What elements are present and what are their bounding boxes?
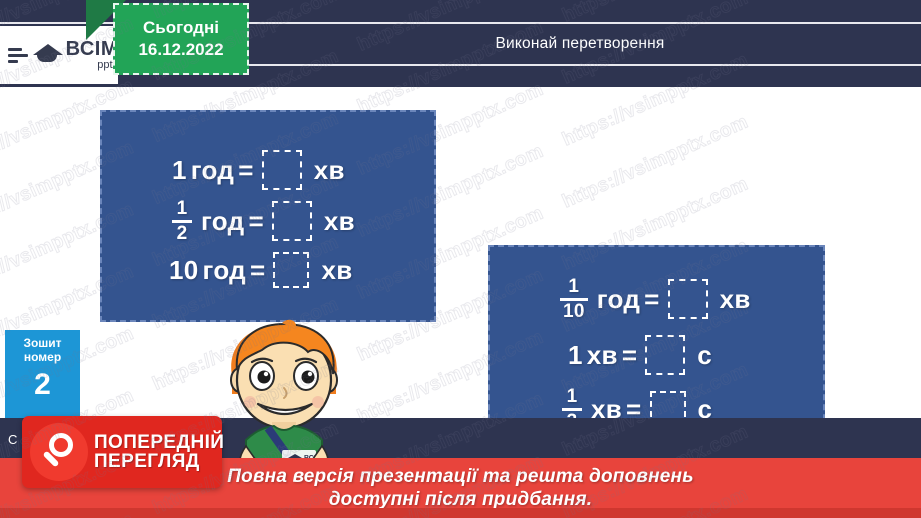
preview-badge: ПОПЕРЕДНІЙ ПЕРЕГЛЯД bbox=[22, 416, 222, 488]
equals-sign: = bbox=[622, 340, 637, 371]
answer-blank[interactable] bbox=[262, 150, 302, 190]
equation-rhs-unit: хв bbox=[720, 284, 751, 315]
answer-blank[interactable] bbox=[273, 252, 309, 288]
equation-lhs-whole: 1 bbox=[172, 155, 187, 186]
preview-badge-text: ПОПЕРЕДНІЙ ПЕРЕГЛЯД bbox=[94, 433, 224, 472]
equation-row: 10 год = хв bbox=[169, 252, 357, 288]
fraction-denominator: 10 bbox=[560, 302, 588, 322]
fraction-denominator: 2 bbox=[174, 224, 191, 244]
fraction-numerator: 1 bbox=[564, 387, 581, 407]
notebook-number-badge: Зошит номер 2 bbox=[5, 330, 80, 418]
banner-bottom-strip bbox=[0, 508, 921, 518]
footer-text: С bbox=[8, 432, 17, 447]
logo-name: ВСІМ bbox=[66, 39, 118, 59]
logo-text: ВСІМ pptx bbox=[66, 39, 118, 71]
equals-sign: = bbox=[644, 284, 659, 315]
magnifier-icon bbox=[30, 423, 88, 481]
equation-rhs-unit: хв bbox=[321, 255, 352, 286]
notebook-label-line1: Зошит bbox=[23, 336, 61, 350]
task-box-1: 1 год = хв 1 2 год = хв 10 год = хв bbox=[100, 110, 436, 322]
notebook-label-line2: номер bbox=[24, 350, 61, 364]
answer-blank[interactable] bbox=[272, 201, 312, 241]
equation-lhs-unit: год bbox=[597, 284, 640, 315]
fraction-numerator: 1 bbox=[174, 199, 191, 219]
today-label: Сьогодні bbox=[143, 18, 219, 38]
page-title: Виконай перетворення bbox=[300, 22, 860, 66]
preview-line1: ПОПЕРЕДНІЙ bbox=[94, 433, 224, 452]
equals-sign: = bbox=[238, 155, 253, 186]
answer-blank[interactable] bbox=[668, 279, 708, 319]
fraction: 1 10 bbox=[560, 277, 588, 322]
today-date-badge: Сьогодні 16.12.2022 bbox=[113, 3, 249, 75]
purchase-notice-line1: Повна версія презентації та решта доповн… bbox=[227, 466, 693, 488]
equation-rhs-unit: хв bbox=[324, 206, 355, 237]
slide-canvas: Виконай перетворення ВСІМ pptx Сьогодні … bbox=[0, 0, 921, 518]
equation-lhs-unit: год bbox=[201, 206, 244, 237]
equation-row: 1 хв = с bbox=[568, 335, 716, 375]
equation-rhs-unit: с bbox=[697, 340, 712, 371]
equation-rhs-unit: хв bbox=[314, 155, 345, 186]
equation-row: 1 год = хв bbox=[172, 150, 349, 190]
equation-lhs-unit: год bbox=[191, 155, 234, 186]
fraction: 1 2 bbox=[172, 199, 192, 244]
today-date: 16.12.2022 bbox=[138, 40, 223, 60]
graduation-cap-icon bbox=[33, 38, 62, 72]
speed-lines-icon bbox=[8, 48, 29, 63]
equals-sign: = bbox=[250, 255, 265, 286]
answer-blank[interactable] bbox=[645, 335, 685, 375]
equation-lhs-unit: год bbox=[203, 255, 246, 286]
preview-line2: ПЕРЕГЛЯД bbox=[94, 452, 224, 471]
equation-row: 1 2 год = хв bbox=[172, 199, 359, 244]
equation-row: 1 10 год = хв bbox=[560, 277, 755, 322]
equation-lhs-unit: хв bbox=[587, 340, 618, 371]
equals-sign: = bbox=[248, 206, 263, 237]
fraction-numerator: 1 bbox=[565, 277, 582, 297]
equation-lhs-whole: 10 bbox=[169, 255, 199, 286]
equation-lhs-whole: 1 bbox=[568, 340, 583, 371]
notebook-number: 2 bbox=[34, 368, 51, 402]
